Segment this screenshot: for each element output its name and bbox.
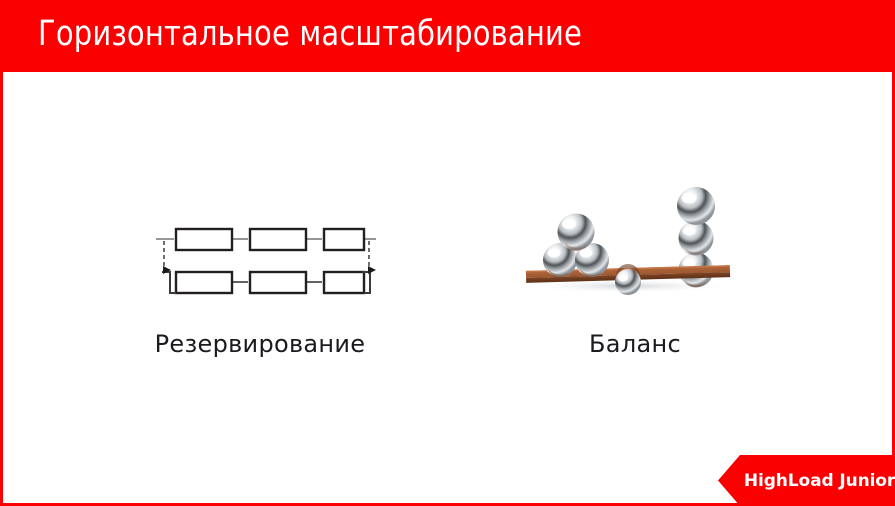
redundancy-diagram: [148, 222, 378, 302]
page-title: Горизонтальное масштабирование: [38, 14, 582, 54]
highload-junior-badge-label: HighLoad Junior: [718, 455, 895, 506]
slide-body-frame: [0, 72, 895, 506]
figure-caption-redundancy: Резервирование: [95, 330, 425, 358]
slide: Горизонтальное масштабирование: [0, 0, 895, 506]
highload-junior-badge: HighLoad Junior: [718, 455, 895, 506]
sphere-stack-left: [543, 214, 609, 278]
figure-caption-balance: Баланс: [470, 330, 800, 358]
slide-header: Горизонтальное масштабирование: [0, 0, 895, 72]
balance-scale-image: [508, 170, 748, 295]
